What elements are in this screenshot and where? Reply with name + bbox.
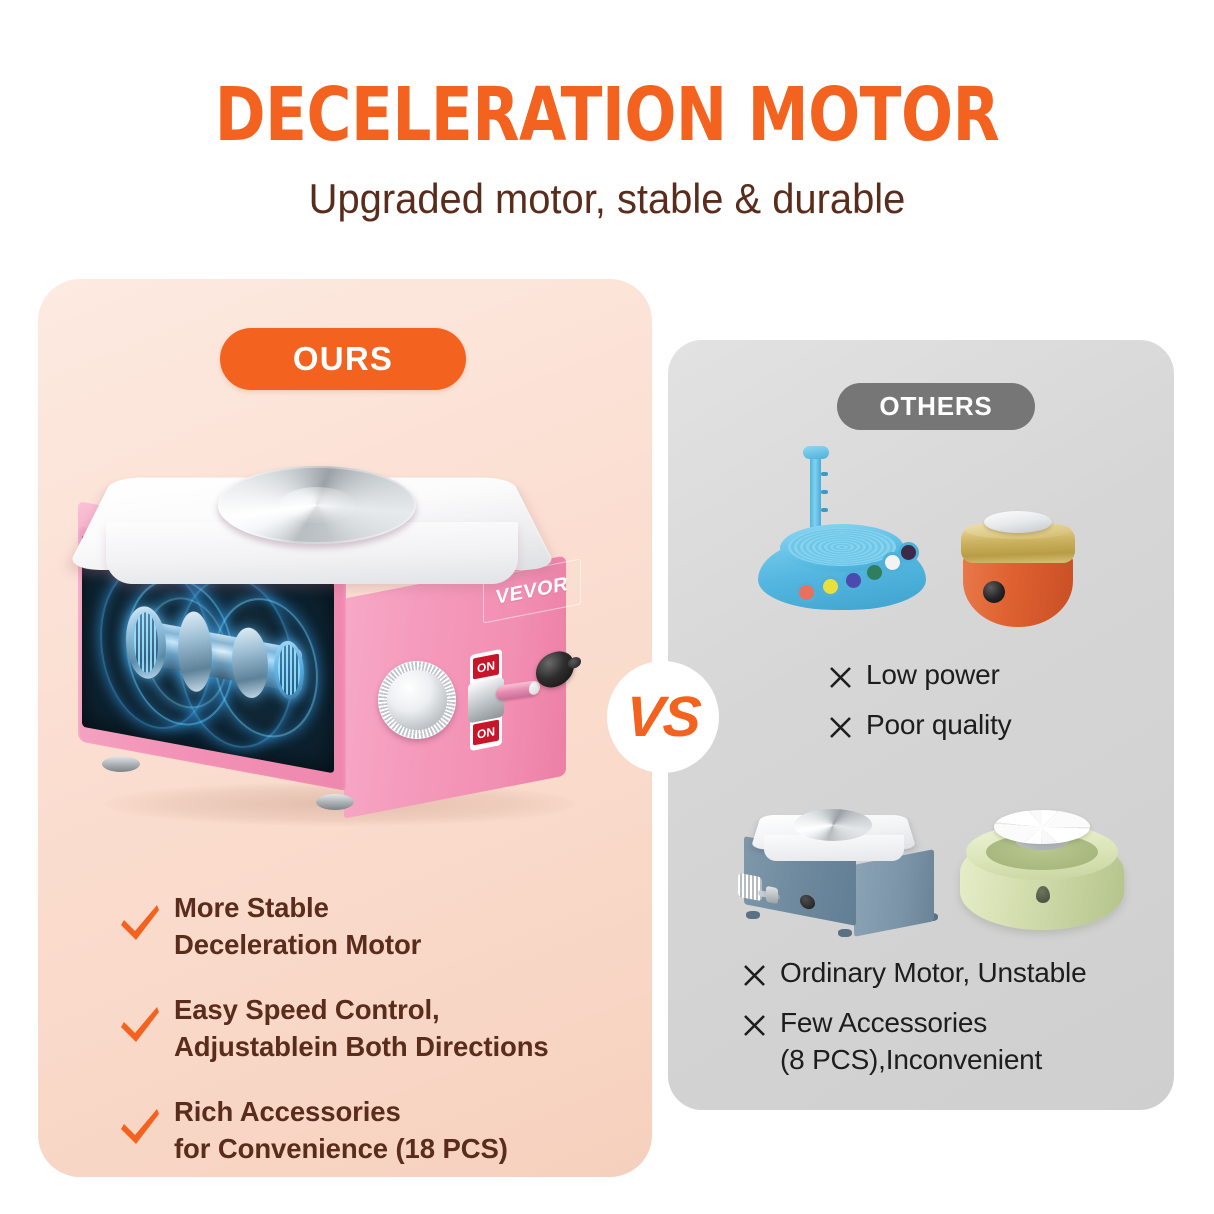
- switch-chrome-body: [468, 677, 504, 724]
- feature-line-2: Adjustablein Both Directions: [174, 1029, 549, 1066]
- list-item: Low power: [828, 657, 1011, 694]
- x-icon: [742, 963, 767, 988]
- paint-pot-icon: [843, 570, 864, 591]
- list-item: More Stable Deceleration Motor: [118, 890, 638, 963]
- product-turntable: [218, 466, 416, 544]
- drawback-line-1: Few Accessories: [780, 1005, 1042, 1042]
- competitor-body: [963, 553, 1073, 627]
- feature-line-1: More Stable: [174, 890, 421, 927]
- competitor-product-gray-box-wheel: [738, 795, 948, 945]
- competitor-arm-notch: [821, 472, 828, 476]
- feature-text: Easy Speed Control, Adjustablein Both Di…: [174, 992, 549, 1065]
- others-drawback-list-bottom: Ordinary Motor, Unstable Few Accessories…: [742, 955, 1086, 1092]
- others-badge: OTHERS: [837, 383, 1035, 430]
- feature-text: Rich Accessories for Convenience (18 PCS…: [174, 1094, 508, 1167]
- competitor-arm-top: [803, 446, 829, 459]
- competitor-foot-icon: [838, 929, 852, 937]
- competitor-vent-icon: [1036, 886, 1050, 903]
- x-icon: [828, 715, 853, 740]
- drawback-line-2: (8 PCS),Inconvenient: [780, 1042, 1042, 1079]
- others-drawback-list-top: Low power Poor quality: [828, 657, 1011, 757]
- page-subtitle: Upgraded motor, stable & durable: [30, 178, 1183, 220]
- ours-feature-list: More Stable Deceleration Motor Easy Spee…: [118, 890, 638, 1196]
- competitor-product-blue-toy-wheel: [758, 446, 933, 626]
- speed-control-knob[interactable]: [378, 661, 456, 739]
- competitor-foot-icon: [746, 911, 760, 919]
- ours-badge: OURS: [220, 328, 466, 390]
- competitor-body-side: [854, 849, 934, 937]
- list-item: Easy Speed Control, Adjustablein Both Di…: [118, 992, 638, 1065]
- feature-line-2: Deceleration Motor: [174, 927, 421, 964]
- competitor-turntable: [984, 511, 1052, 533]
- competitor-product-mint-wheel: [960, 808, 1130, 943]
- list-item: Rich Accessories for Convenience (18 PCS…: [118, 1094, 638, 1167]
- competitor-turntable: [788, 528, 896, 566]
- x-icon: [828, 665, 853, 690]
- ours-product-image: VEVOR ON ON: [70, 430, 630, 860]
- check-icon: [118, 1004, 162, 1048]
- ours-badge-label: OURS: [293, 340, 393, 378]
- product-foot-icon: [102, 756, 140, 772]
- drawback-text: Low power: [866, 657, 1000, 694]
- competitor-arm-notch: [821, 508, 828, 512]
- list-item: Ordinary Motor, Unstable: [742, 955, 1086, 992]
- page-title: DECELERATION MOTOR: [49, 78, 1166, 152]
- competitor-turntable: [994, 810, 1090, 844]
- others-badge-label: OTHERS: [879, 391, 992, 422]
- paint-pot-icon: [796, 582, 817, 603]
- vs-label: VS: [624, 684, 703, 750]
- list-item: Few Accessories (8 PCS),Inconvenient: [742, 1005, 1086, 1079]
- check-icon: [118, 902, 162, 946]
- competitor-switch: [766, 886, 778, 904]
- competitor-knob: [738, 873, 762, 902]
- drawback-text: Ordinary Motor, Unstable: [780, 955, 1086, 992]
- product-foot-icon: [316, 794, 354, 810]
- competitor-product-orange-wheel: [955, 505, 1081, 630]
- header: DECELERATION MOTOR Upgraded motor, stabl…: [0, 0, 1214, 262]
- list-item: Poor quality: [828, 707, 1011, 744]
- feature-line-1: Rich Accessories: [174, 1094, 508, 1131]
- competitor-knob: [983, 581, 1005, 603]
- competitor-arm-notch: [821, 490, 828, 494]
- paint-pot-icon: [898, 542, 919, 563]
- drawback-text: Few Accessories (8 PCS),Inconvenient: [780, 1005, 1042, 1079]
- feature-line-2: for Convenience (18 PCS): [174, 1131, 508, 1168]
- feature-text: More Stable Deceleration Motor: [174, 890, 421, 963]
- paint-pot-icon: [820, 576, 841, 597]
- check-icon: [118, 1106, 162, 1150]
- vs-badge: VS: [607, 661, 719, 773]
- feature-line-1: Easy Speed Control,: [174, 992, 549, 1029]
- drawback-text: Poor quality: [866, 707, 1011, 744]
- competitor-turntable: [794, 809, 872, 841]
- x-icon: [742, 1013, 767, 1038]
